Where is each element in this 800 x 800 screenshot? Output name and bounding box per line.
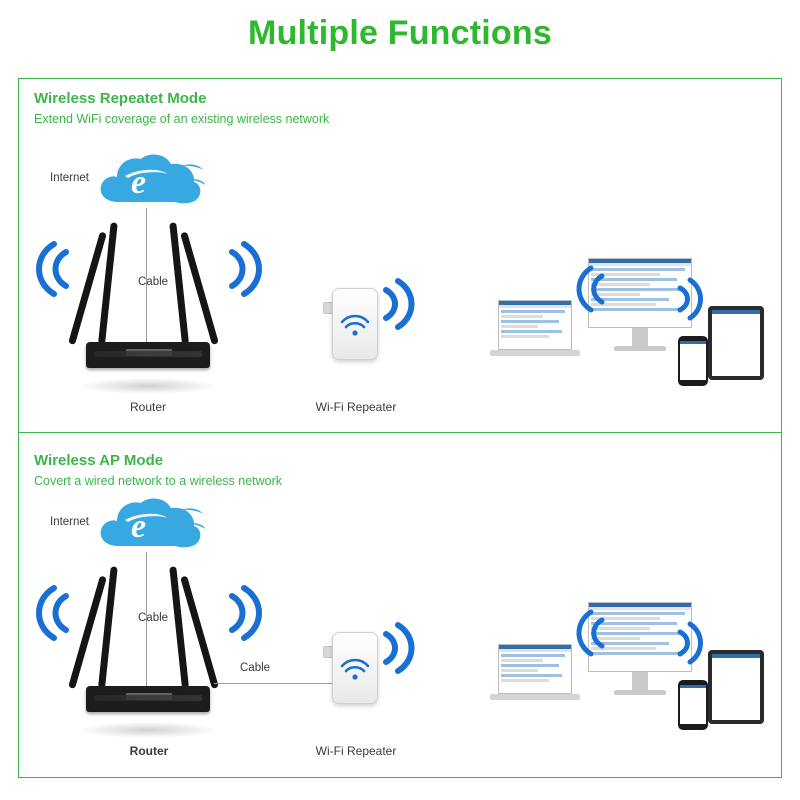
wifi-signal-icon — [676, 274, 704, 324]
panel-subtitle-repeater-mode: Extend WiFi coverage of an existing wire… — [34, 112, 329, 126]
router-device-2 — [84, 562, 214, 712]
label-repeater-2: Wi-Fi Repeater — [306, 744, 406, 758]
device-cluster-1 — [480, 258, 770, 398]
wifi-signal-icon — [36, 582, 70, 644]
panel-title-ap-mode: Wireless AP Mode — [34, 452, 282, 469]
panel-title-repeater-mode: Wireless Repeatet Mode — [34, 90, 329, 107]
repeater-wifi-glyph — [333, 633, 377, 703]
monitor-base-1 — [614, 346, 666, 351]
repeater-body — [332, 288, 378, 360]
wifi-signal-icon — [576, 262, 606, 316]
tablet-device-1 — [708, 306, 764, 380]
label-cable-3: Cable — [240, 662, 270, 674]
cloud-icon: e — [95, 150, 205, 212]
label-repeater-1: Wi-Fi Repeater — [308, 400, 404, 414]
panel-header-ap-mode: Wireless AP Mode Covert a wired network … — [34, 452, 282, 488]
router-device-1 — [84, 218, 214, 368]
label-router-1: Router — [108, 400, 188, 414]
monitor-base-2 — [614, 690, 666, 695]
panel-subtitle-ap-mode: Covert a wired network to a wireless net… — [34, 474, 282, 488]
laptop-screen-1 — [498, 300, 572, 350]
monitor-stand-2 — [632, 672, 648, 690]
repeater-wifi-glyph — [333, 289, 377, 359]
laptop-base-1 — [490, 350, 580, 356]
repeater-body — [332, 632, 378, 704]
cable-line-router-to-repeater — [214, 683, 336, 684]
panel-divider — [18, 432, 782, 433]
tablet-device-2 — [708, 650, 764, 724]
wifi-signal-icon — [228, 582, 262, 644]
laptop-screen-2 — [498, 644, 572, 694]
wifi-signal-icon — [382, 616, 424, 680]
wifi-signal-icon — [36, 238, 70, 300]
wifi-signal-icon — [676, 618, 704, 668]
monitor-stand-1 — [632, 328, 648, 346]
svg-text:e: e — [131, 508, 146, 545]
label-internet-2: Internet — [50, 516, 89, 528]
laptop-base-2 — [490, 694, 580, 700]
device-cluster-2 — [480, 602, 770, 742]
wifi-signal-icon — [382, 272, 424, 336]
label-internet-1: Internet — [50, 172, 89, 184]
router-shadow-2 — [78, 722, 218, 738]
label-router-2: Router — [104, 744, 194, 758]
wifi-signal-icon — [576, 606, 606, 660]
router-shadow-1 — [78, 378, 218, 394]
page-title: Multiple Functions — [0, 14, 800, 53]
cloud-icon: e — [95, 494, 205, 556]
panel-header-repeater-mode: Wireless Repeatet Mode Extend WiFi cover… — [34, 90, 329, 126]
phone-device-1 — [678, 336, 708, 386]
svg-text:e: e — [131, 164, 146, 201]
phone-device-2 — [678, 680, 708, 730]
wifi-signal-icon — [228, 238, 262, 300]
